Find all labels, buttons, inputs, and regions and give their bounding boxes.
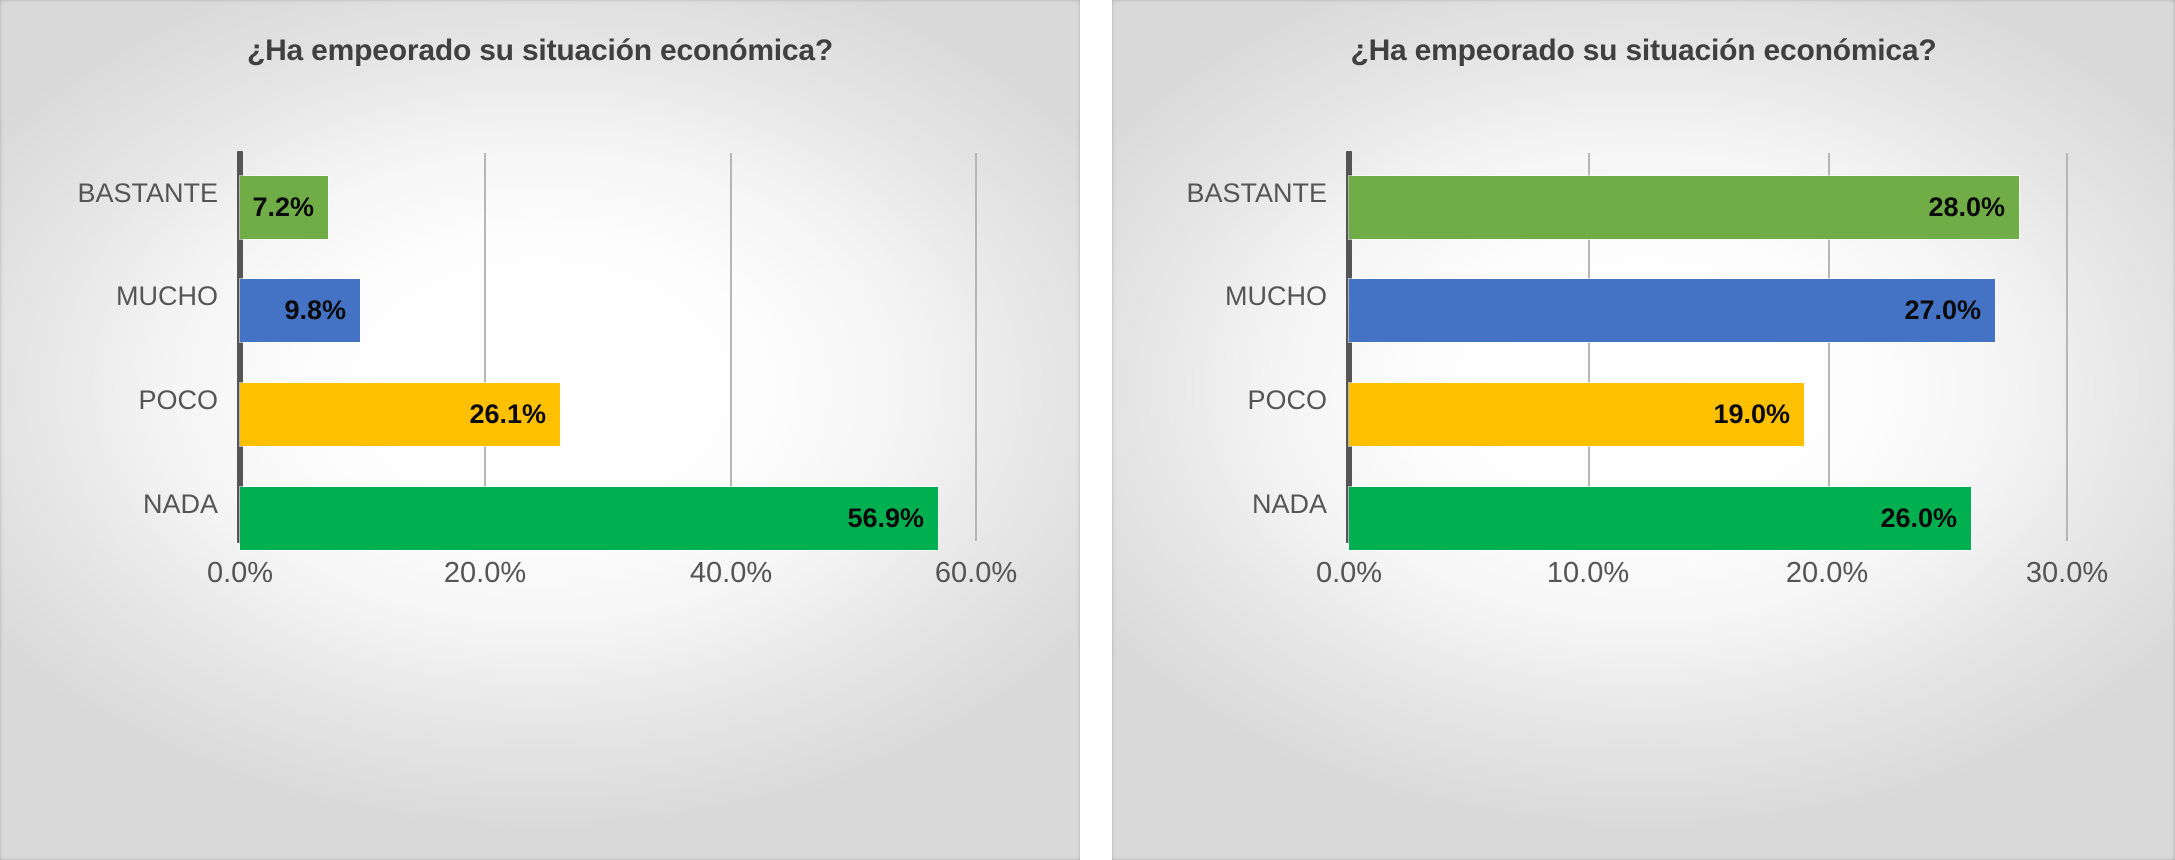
right-chart-panel: ¿Ha empeorado su situación económica? 28… bbox=[1112, 0, 2175, 860]
bar-poco[interactable]: 19.0% bbox=[1349, 383, 1804, 446]
category-label-bastante: BASTANTE bbox=[1112, 162, 1327, 225]
bar-value-bastante: 28.0% bbox=[1928, 192, 2019, 223]
category-label-mucho: MUCHO bbox=[0, 265, 218, 328]
category-label-mucho: MUCHO bbox=[1112, 265, 1327, 328]
bar-bastante[interactable]: 7.2% bbox=[240, 176, 328, 239]
bar-bastante[interactable]: 28.0% bbox=[1349, 176, 2019, 239]
xtick-label-3: 30.0% bbox=[1977, 557, 2157, 590]
category-label-nada: NADA bbox=[0, 473, 218, 536]
xtick-label-1: 10.0% bbox=[1498, 557, 1678, 590]
bar-poco[interactable]: 26.1% bbox=[240, 383, 560, 446]
bar-value-nada: 26.0% bbox=[1880, 503, 1971, 534]
bar-value-bastante: 7.2% bbox=[252, 192, 328, 223]
bar-mucho[interactable]: 27.0% bbox=[1349, 279, 1995, 342]
bar-value-nada: 56.9% bbox=[847, 503, 938, 534]
bar-nada[interactable]: 56.9% bbox=[240, 487, 938, 550]
bar-value-poco: 19.0% bbox=[1713, 399, 1804, 430]
xtick-label-2: 40.0% bbox=[641, 557, 821, 590]
left-chart-panel: ¿Ha empeorado su situación económica? 7.… bbox=[0, 0, 1080, 860]
bar-nada[interactable]: 26.0% bbox=[1349, 487, 1971, 550]
gridline-20 bbox=[484, 153, 486, 541]
bar-value-mucho: 27.0% bbox=[1904, 295, 1995, 326]
gridline-60 bbox=[975, 153, 977, 541]
bar-value-mucho: 9.8% bbox=[284, 295, 360, 326]
xtick-label-0: 0.0% bbox=[1259, 557, 1439, 590]
xtick-label-0: 0.0% bbox=[150, 557, 330, 590]
left-plot-area: 7.2% 9.8% 26.1% 56.9% BASTANTE MUCHO POC… bbox=[0, 0, 1080, 860]
xtick-label-3: 60.0% bbox=[886, 557, 1066, 590]
bar-mucho[interactable]: 9.8% bbox=[240, 279, 360, 342]
gridline-40 bbox=[730, 153, 732, 541]
category-label-poco: POCO bbox=[0, 369, 218, 432]
category-label-bastante: BASTANTE bbox=[0, 162, 218, 225]
gridline-30 bbox=[2066, 153, 2068, 541]
xtick-label-2: 20.0% bbox=[1737, 557, 1917, 590]
category-label-poco: POCO bbox=[1112, 369, 1327, 432]
right-plot-area: 28.0% 27.0% 19.0% 26.0% BASTANTE MUCHO P… bbox=[1112, 0, 2175, 860]
bar-value-poco: 26.1% bbox=[469, 399, 560, 430]
xtick-label-1: 20.0% bbox=[395, 557, 575, 590]
chart-comparison-figure: ¿Ha empeorado su situación económica? 7.… bbox=[0, 0, 2175, 860]
category-label-nada: NADA bbox=[1112, 473, 1327, 536]
